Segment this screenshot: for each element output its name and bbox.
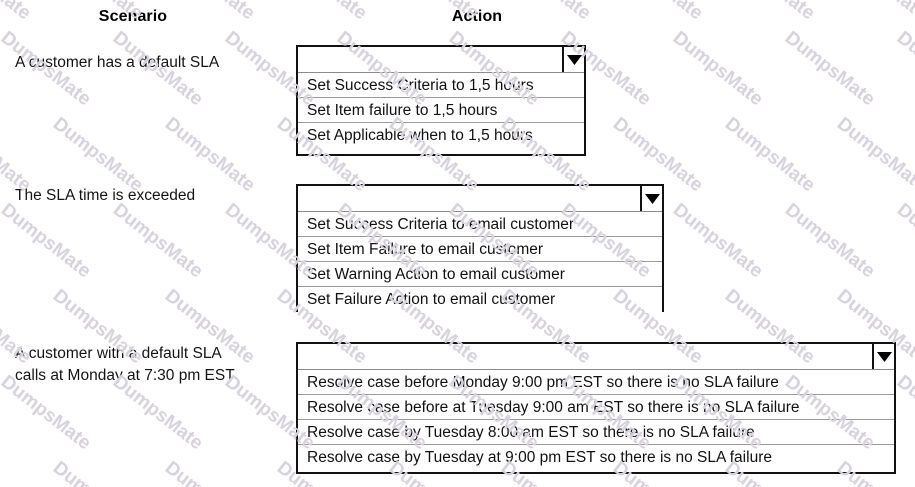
- column-header-action: Action: [352, 8, 602, 26]
- column-header-scenario: Scenario: [0, 8, 266, 26]
- action-dropdown-1-options: Set Success Criteria to 1,5 hours Set It…: [298, 73, 584, 148]
- action-dropdown-1-select[interactable]: [298, 47, 584, 73]
- dropdown-option[interactable]: Set Applicable when to 1,5 hours: [298, 123, 584, 148]
- dropdown-option[interactable]: Set Item failure to 1,5 hours: [298, 98, 584, 123]
- scenario-label-3: A customer with a default SLA calls at M…: [15, 343, 235, 387]
- dropdown-option[interactable]: Set Success Criteria to 1,5 hours: [298, 73, 584, 98]
- dropdown-option[interactable]: Resolve case before Monday 9:00 pm EST s…: [298, 370, 894, 395]
- dropdown-option[interactable]: Set Item Failure to email customer: [298, 237, 662, 262]
- scenario-label-2: The SLA time is exceeded: [15, 185, 195, 207]
- dropdown-option[interactable]: Resolve case by Tuesday at 9:00 pm EST s…: [298, 445, 894, 470]
- chevron-down-icon[interactable]: [872, 344, 894, 369]
- action-dropdown-2-options: Set Success Criteria to email customer S…: [298, 212, 662, 312]
- dropdown-option[interactable]: Set Success Criteria to email customer: [298, 212, 662, 237]
- scenario-label-1: A customer has a default SLA: [15, 52, 219, 74]
- action-dropdown-3-select[interactable]: [298, 344, 894, 370]
- dropdown-option[interactable]: Resolve case by Tuesday 8:00 am EST so t…: [298, 420, 894, 445]
- action-dropdown-2[interactable]: Set Success Criteria to email customer S…: [296, 184, 664, 312]
- question-body: Scenario Action A customer has a default…: [0, 0, 915, 487]
- action-dropdown-1[interactable]: Set Success Criteria to 1,5 hours Set It…: [296, 45, 586, 156]
- action-dropdown-3[interactable]: Resolve case before Monday 9:00 pm EST s…: [296, 342, 896, 474]
- chevron-down-icon[interactable]: [640, 186, 662, 211]
- action-dropdown-3-options: Resolve case before Monday 9:00 pm EST s…: [298, 370, 894, 470]
- dropdown-option[interactable]: Set Warning Action to email customer: [298, 262, 662, 287]
- dropdown-option[interactable]: Set Failure Action to email customer: [298, 287, 662, 312]
- chevron-down-icon[interactable]: [562, 47, 584, 72]
- action-dropdown-2-select[interactable]: [298, 186, 662, 212]
- dropdown-option[interactable]: Resolve case before at Tuesday 9:00 am E…: [298, 395, 894, 420]
